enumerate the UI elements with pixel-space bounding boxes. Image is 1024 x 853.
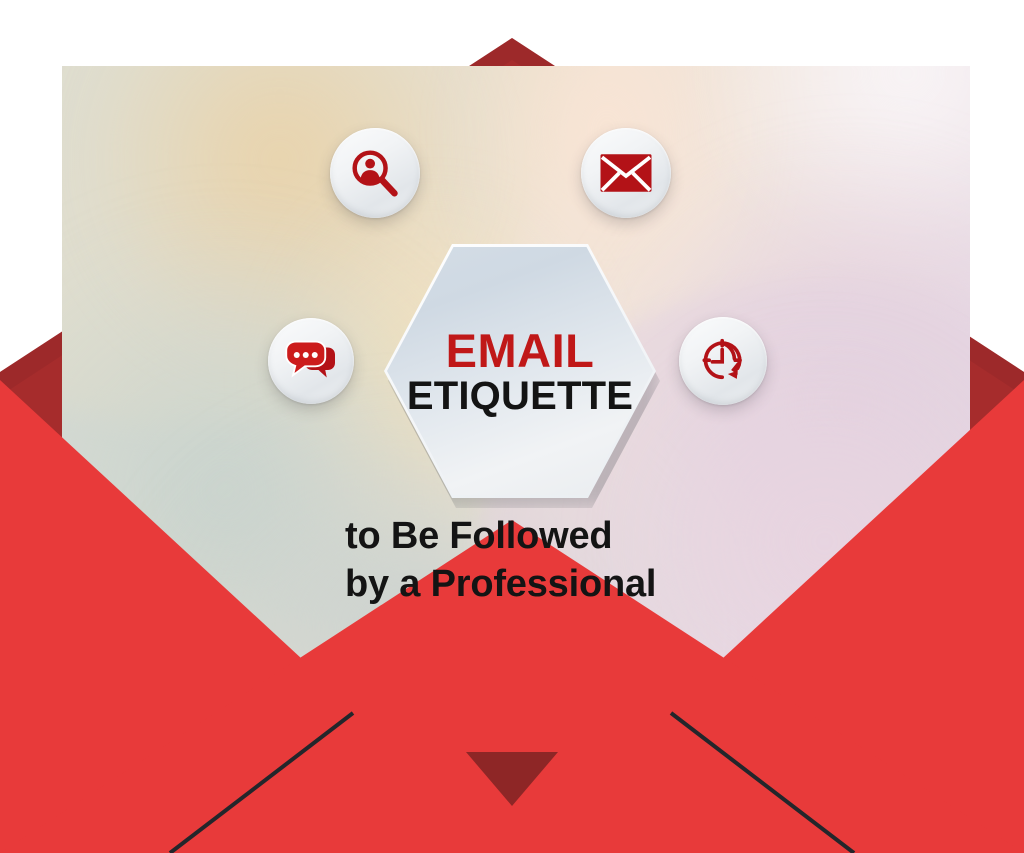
headline-secondary: ETIQUETTE bbox=[407, 376, 633, 416]
subtitle-line-1: to Be Followed bbox=[345, 513, 745, 561]
envelope-icon bbox=[599, 152, 653, 194]
icon-bubble-person-search[interactable] bbox=[330, 128, 420, 218]
chat-bubbles-icon bbox=[284, 338, 338, 384]
poster-canvas: EMAIL ETIQUETTE to Be Followed by a Prof… bbox=[0, 0, 1024, 853]
subtitle-line-2: by a Professional bbox=[345, 561, 745, 609]
icon-bubble-chat[interactable] bbox=[268, 318, 354, 404]
poster-subtitle: to Be Followed by a Professional bbox=[345, 513, 745, 609]
person-search-icon bbox=[349, 147, 401, 199]
icon-bubble-clock-refresh[interactable] bbox=[679, 317, 767, 405]
clock-refresh-icon bbox=[697, 335, 749, 387]
headline-primary: EMAIL bbox=[446, 327, 595, 374]
icon-bubble-envelope[interactable] bbox=[581, 128, 671, 218]
hexagon-badge[interactable]: EMAIL ETIQUETTE bbox=[384, 244, 656, 498]
